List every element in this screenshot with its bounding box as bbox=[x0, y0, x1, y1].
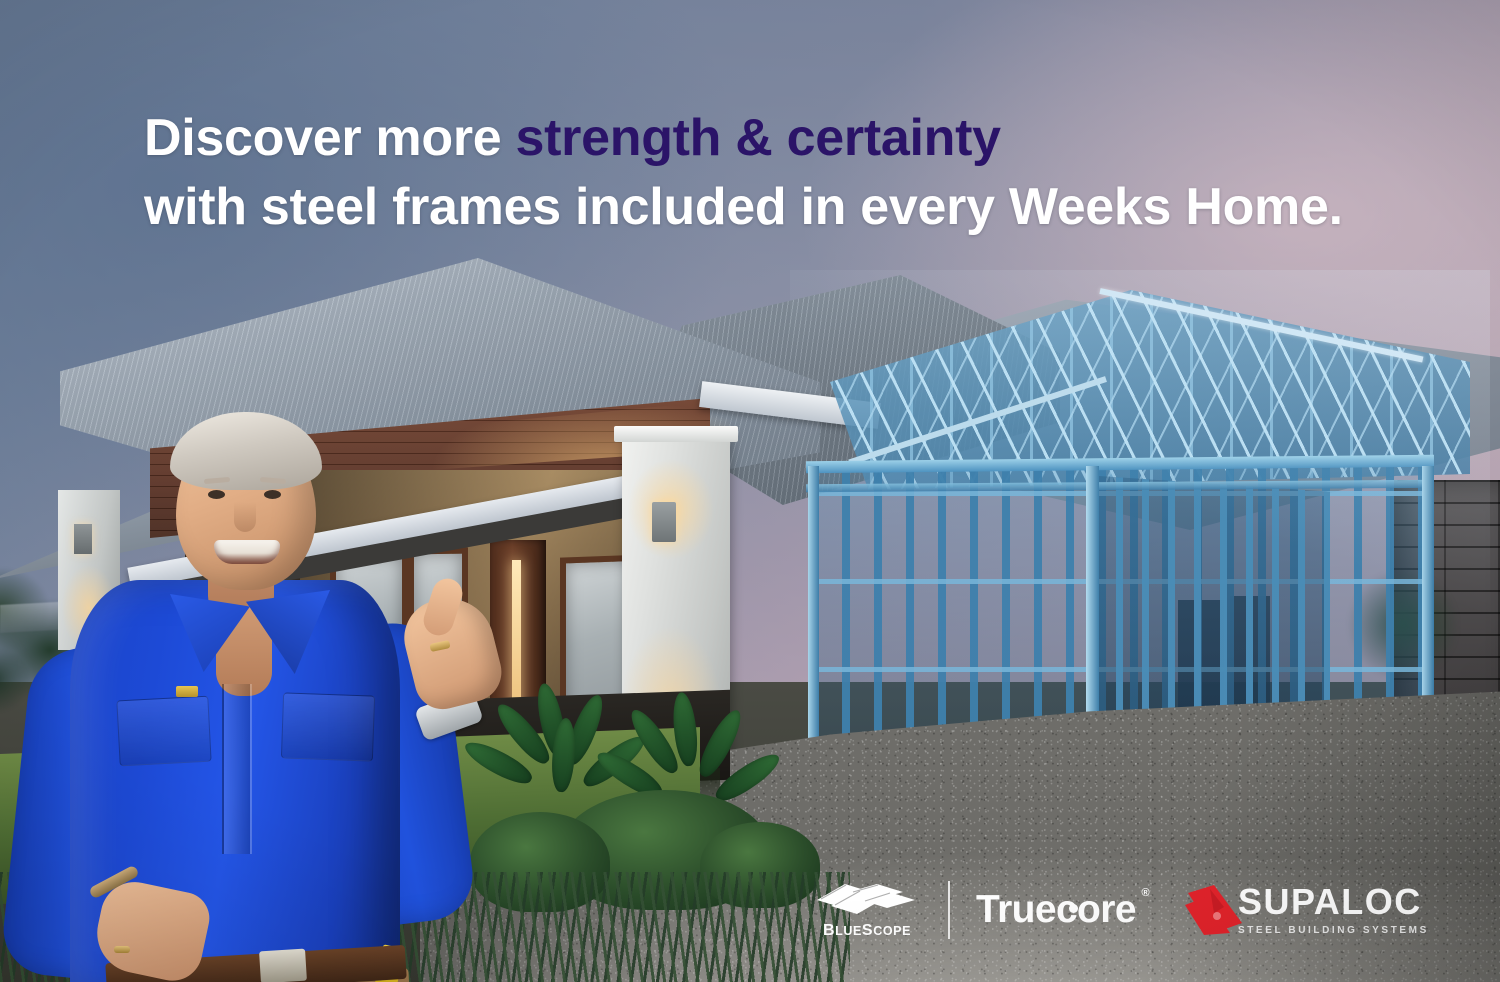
truecore-registered-mark: ® bbox=[1141, 888, 1149, 899]
presenter-nose bbox=[234, 502, 256, 532]
truecore-wordmark: Truecore bbox=[976, 888, 1136, 931]
supaloc-red-diagonal-mark bbox=[1184, 883, 1246, 937]
presenter-shirt-placket bbox=[222, 684, 252, 854]
presenter-ring-left bbox=[114, 946, 130, 953]
frame-left-post bbox=[808, 466, 819, 746]
frame-corner-post bbox=[1086, 466, 1099, 752]
supaloc-tagline: STEEL BUILDING SYSTEMS bbox=[1238, 925, 1429, 936]
bluescope-logo: BLUESCOPE bbox=[812, 880, 922, 939]
presenter-figure bbox=[10, 398, 530, 982]
headline-line-1-prefix: Discover more bbox=[144, 109, 516, 167]
steel-wall-frame-return bbox=[1090, 470, 1330, 740]
presenter-hair bbox=[170, 412, 322, 490]
presenter-smile bbox=[214, 540, 280, 564]
headline: Discover more strength & certainty with … bbox=[144, 104, 1364, 241]
presenter-belt-buckle bbox=[259, 949, 307, 982]
supaloc-logo: SUPALOC STEEL BUILDING SYSTEMS bbox=[1184, 883, 1429, 937]
logo-divider bbox=[948, 881, 950, 939]
bluescope-word-s: S bbox=[862, 922, 873, 939]
presenter-shirt-pocket-left bbox=[116, 696, 211, 767]
bluescope-word-cope: COPE bbox=[873, 924, 911, 938]
presenter-shirt-pocket-right bbox=[281, 692, 375, 761]
bluescope-word-b: B bbox=[823, 922, 835, 939]
presenter-shirt-badge bbox=[176, 686, 198, 697]
headline-line-1: Discover more strength & certainty bbox=[144, 104, 1364, 173]
render-pillar-cap bbox=[614, 426, 738, 442]
wall-light-icon bbox=[652, 502, 676, 542]
headline-accent-phrase: strength & certainty bbox=[516, 109, 1001, 167]
partner-logo-bar: BLUESCOPE Truecore ® SUPALOC STEEL BUILD… bbox=[812, 880, 1429, 939]
frame-right-post bbox=[1422, 466, 1434, 716]
bluescope-word-lue: LUE bbox=[835, 924, 862, 938]
truecore-o-dot bbox=[1069, 904, 1078, 913]
presenter-eye-right bbox=[264, 490, 281, 499]
advertising-banner: Discover more strength & certainty with … bbox=[0, 0, 1500, 982]
headline-line-2: with steel frames included in every Week… bbox=[144, 173, 1364, 242]
presenter-eye-left bbox=[208, 490, 225, 499]
bluescope-wordmark: BLUESCOPE bbox=[823, 923, 911, 939]
truecore-logo: Truecore ® bbox=[976, 890, 1136, 929]
supaloc-text-block: SUPALOC STEEL BUILDING SYSTEMS bbox=[1238, 884, 1429, 936]
supaloc-wordmark: SUPALOC bbox=[1238, 884, 1429, 920]
bluescope-wave-mark bbox=[815, 880, 919, 920]
